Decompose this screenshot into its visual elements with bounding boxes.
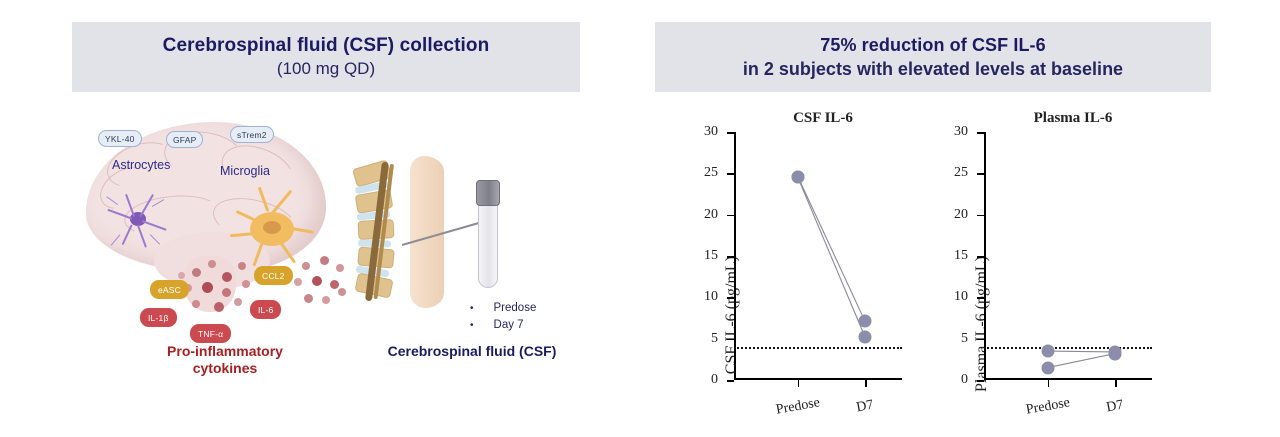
cytokine-dot: [208, 260, 216, 268]
csf-collection-tube: [476, 180, 500, 288]
left-header-line2: (100 mg QD): [277, 58, 375, 80]
spine-illustration: [348, 162, 458, 302]
astrocyte-process: [137, 225, 147, 248]
chart-title: CSF IL-6: [728, 110, 918, 127]
csf-il6-chart: CSF IL-6 CSF IL-6 (pg/mL) 051015202530 P…: [672, 108, 922, 408]
y-tick-label: 5: [711, 331, 718, 347]
microglia-label: Microglia: [220, 164, 270, 178]
y-tick: 15: [727, 256, 734, 258]
y-tick: 0: [727, 380, 734, 382]
y-tick: 20: [977, 215, 984, 217]
plot-area: CSF IL-6 (pg/mL) 051015202530 PredoseD7: [734, 132, 902, 380]
data-point: [1041, 361, 1054, 374]
y-tick: 10: [727, 297, 734, 299]
astrocyte-process: [122, 224, 133, 245]
microglia-nucleus: [263, 221, 281, 234]
cytokine-dot: [202, 282, 213, 293]
y-tick: 5: [977, 339, 984, 341]
list-item: • Day 7: [470, 317, 536, 334]
astrocyte-cell-icon: [102, 186, 176, 248]
cytokine-dot: [304, 294, 313, 303]
x-tick: D7: [865, 380, 867, 387]
microglia-process: [258, 187, 270, 212]
y-tick: 30: [727, 132, 734, 134]
cytokine-dot: [320, 256, 329, 265]
astrocyte-process: [111, 234, 121, 245]
y-tick-label: 10: [954, 289, 968, 305]
y-tick: 5: [727, 339, 734, 341]
ykl40-pill: YKL-40: [98, 130, 142, 147]
il6-badge: IL-6: [250, 300, 281, 319]
gfap-pill: GFAP: [166, 131, 203, 148]
plasma-il6-chart: Plasma IL-6 Plasma IL-6 (pg/mL) 05101520…: [922, 108, 1172, 408]
x-tick: Predose: [798, 380, 800, 387]
right-panel-header: 75% reduction of CSF IL-6 in 2 subjects …: [655, 22, 1211, 92]
cytokine-dot: [322, 296, 330, 304]
y-tick-label: 0: [711, 372, 718, 388]
strem2-pill: sTrem2: [230, 126, 274, 143]
microglia-cell-icon: [228, 190, 314, 264]
slide-canvas: Cerebrospinal fluid (CSF) collection (10…: [0, 0, 1280, 437]
cytokine-dot: [336, 264, 344, 272]
right-header-line2: in 2 subjects with elevated levels at ba…: [743, 57, 1123, 81]
data-point: [1109, 347, 1122, 360]
cytokine-dot: [222, 288, 231, 297]
astrocyte-process: [152, 199, 165, 207]
timepoint-bullet-list: • Predose • Day 7: [470, 300, 536, 334]
left-panel-header: Cerebrospinal fluid (CSF) collection (10…: [72, 22, 580, 92]
astrocyte-process: [150, 234, 161, 245]
data-point: [1041, 345, 1054, 358]
y-tick-label: 20: [704, 207, 718, 223]
astrocyte-process: [107, 209, 132, 219]
il1b-badge: IL-1β: [140, 308, 177, 327]
y-tick-label: 5: [961, 331, 968, 347]
cytokine-dot: [302, 262, 310, 270]
chart-title: Plasma IL-6: [978, 110, 1168, 127]
easc-badge: eASC: [150, 280, 189, 299]
y-tick-label: 20: [954, 207, 968, 223]
x-tick-label: Predose: [1025, 395, 1071, 418]
data-point: [859, 315, 872, 328]
bullet-glyph: •: [470, 301, 474, 317]
x-tick-label: Predose: [775, 395, 821, 418]
cytokine-dot: [338, 288, 346, 296]
cytokine-dot: [192, 300, 200, 308]
cytokine-dot: [222, 272, 232, 282]
y-tick-label: 15: [704, 248, 718, 264]
cytokine-dot: [238, 262, 246, 270]
x-tick: D7: [1115, 380, 1117, 387]
cytokine-dot: [312, 276, 322, 286]
subject-connector: [1048, 354, 1115, 368]
y-tick-label: 30: [704, 124, 718, 140]
left-header-line1: Cerebrospinal fluid (CSF) collection: [163, 34, 490, 58]
y-tick-label: 10: [704, 289, 718, 305]
brain-illustration: YKL-40 GFAP sTrem2 Astrocytes Microglia: [80, 104, 360, 349]
plot-area: Plasma IL-6 (pg/mL) 051015202530 Predose…: [984, 132, 1152, 380]
csf-caption: Cerebrospinal fluid (CSF): [372, 343, 572, 359]
connector-lines: [734, 132, 902, 380]
y-tick: 20: [727, 215, 734, 217]
y-tick-label: 25: [954, 165, 968, 181]
astrocyte-process: [142, 220, 167, 230]
x-tick-label: D7: [1105, 398, 1125, 417]
y-tick-label: 15: [954, 248, 968, 264]
right-header-line1: 75% reduction of CSF IL-6: [820, 33, 1046, 57]
y-tick: 25: [977, 173, 984, 175]
bullet-glyph: •: [470, 318, 474, 334]
y-tick: 25: [727, 173, 734, 175]
y-tick: 0: [977, 380, 984, 382]
tube-body: [478, 202, 498, 288]
astrocyte-process: [106, 196, 118, 205]
list-item: • Predose: [470, 300, 536, 317]
microglia-process: [252, 243, 263, 267]
subject-connector: [798, 177, 865, 322]
cytokine-dot: [242, 280, 250, 288]
cytokine-dot: [214, 302, 224, 312]
y-tick: 15: [977, 256, 984, 258]
data-point: [859, 331, 872, 344]
y-tick-label: 30: [954, 124, 968, 140]
astrocytes-label: Astrocytes: [112, 158, 170, 172]
astrocyte-process: [125, 194, 135, 217]
ccl2-badge: CCL2: [254, 266, 293, 285]
tube-cap: [476, 180, 500, 206]
csf-collection-illustration: YKL-40 GFAP sTrem2 Astrocytes Microglia: [72, 100, 580, 400]
tnfa-badge: TNF-α: [190, 324, 231, 343]
bullet-label-day7: Day 7: [494, 317, 524, 333]
y-tick: 30: [977, 132, 984, 134]
x-tick-label: D7: [855, 398, 875, 417]
connector-lines: [984, 132, 1152, 380]
pro-inflammatory-cytokines-caption: Pro-inflammatory cytokines: [118, 343, 332, 377]
y-tick-label: 0: [961, 372, 968, 388]
cytokine-dot: [178, 272, 185, 279]
cytokine-dot: [234, 298, 242, 306]
microglia-process: [271, 190, 293, 215]
cytokine-dot: [294, 278, 302, 286]
subject-connector: [798, 177, 865, 337]
bullet-label-predose: Predose: [494, 300, 537, 316]
skin-layer: [410, 156, 444, 308]
data-point: [791, 171, 804, 184]
cytokine-dot: [330, 280, 339, 289]
x-tick: Predose: [1048, 380, 1050, 387]
y-tick-label: 25: [704, 165, 718, 181]
cytokine-dot: [192, 268, 201, 277]
y-tick: 10: [977, 297, 984, 299]
subject-connector: [1048, 351, 1115, 352]
